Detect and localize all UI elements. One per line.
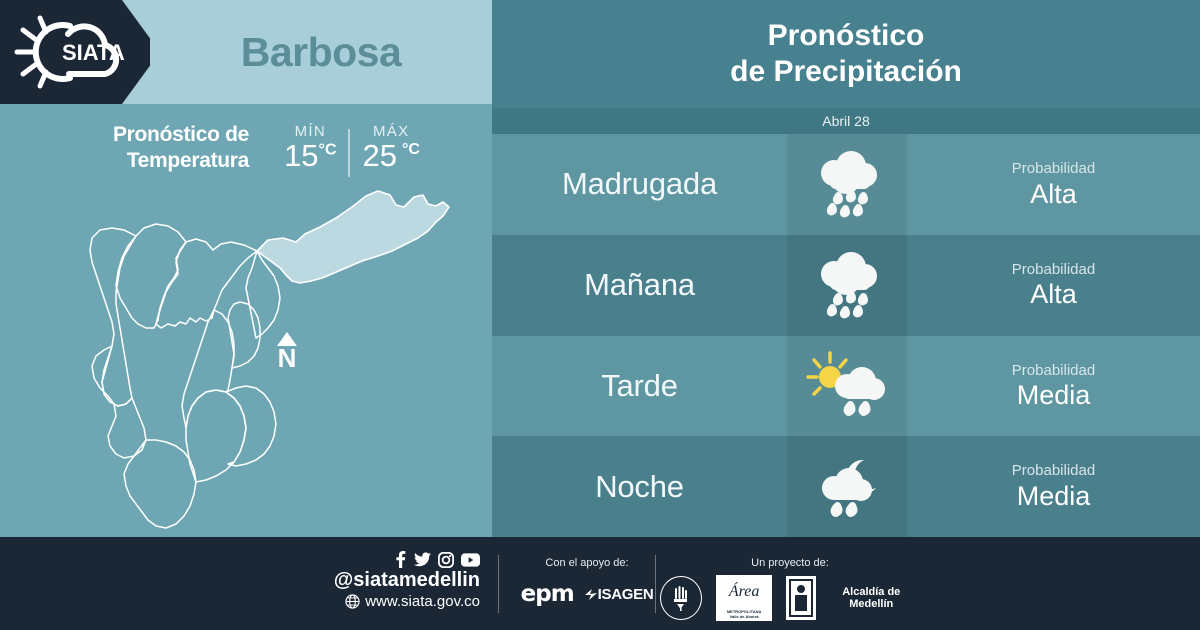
probability-caption: Probabilidad (1012, 159, 1095, 179)
weather-icon-cell (787, 436, 907, 537)
max-unit: °C (402, 141, 420, 158)
support-logos: epm ISAGEN (512, 581, 662, 607)
weather-icon-cell (787, 235, 907, 336)
heavy-rain-cloud-icon (808, 250, 886, 320)
twitter-icon[interactable] (414, 551, 431, 568)
area-word: Área (716, 583, 773, 601)
left-panel: SIATA Barbosa Pronóstico de Temperatura … (0, 0, 492, 537)
period-cell: Mañana (492, 235, 787, 336)
youtube-icon[interactable] (461, 553, 480, 567)
area-metropolitana-logo: Área METROPOLITANA Valle de Aburrá (716, 575, 773, 621)
project-block: Un proyecto de: (660, 557, 920, 621)
city-name: Barbosa (150, 0, 492, 104)
map-region-outlines (90, 224, 280, 528)
epm-logo: epm (521, 581, 574, 607)
compass: N (277, 332, 297, 371)
period-label: Madrugada (562, 166, 717, 202)
probability-cell: Probabilidad Alta (907, 134, 1200, 235)
heavy-rain-cloud-icon (808, 149, 886, 219)
probability-caption: Probabilidad (1012, 260, 1095, 280)
temperature-header: Pronóstico de Temperatura MÍN 15°C MÁX 2… (0, 112, 492, 184)
forecast-row[interactable]: Noche Probabilidad (492, 436, 1200, 537)
support-block: Con el apoyo de: epm ISAGEN (512, 557, 662, 607)
map-region-barbosa[interactable] (257, 191, 449, 283)
unal-seal-logo (660, 576, 702, 620)
right-panel: Pronóstico de Precipitación Abril 28 Mad… (492, 0, 1200, 537)
probability-value: Media (1017, 380, 1091, 411)
instagram-icon[interactable] (438, 552, 454, 568)
social-handle[interactable]: @siatamedellin (330, 569, 480, 592)
max-number: 25 (363, 138, 397, 173)
svg-text:SIATA: SIATA (62, 40, 125, 65)
website-text: www.siata.gov.co (365, 593, 480, 610)
unal-emblem-icon (666, 583, 696, 613)
footer-divider (655, 555, 656, 613)
probability-value: Alta (1030, 179, 1077, 210)
project-caption: Un proyecto de: (660, 557, 920, 569)
precipitation-title-line1: Pronóstico (768, 19, 925, 52)
compass-north-label: N (277, 346, 297, 371)
temperature-min-value: 15°C (284, 138, 336, 174)
probability-caption: Probabilidad (1012, 361, 1095, 381)
sun-cloud-icon: SIATA (12, 12, 138, 92)
alcaldia-word: Alcaldía de Medellín (822, 586, 920, 610)
precipitation-title-line2: de Precipitación (730, 55, 962, 88)
forecast-date: Abril 28 (822, 113, 869, 129)
probability-cell: Probabilidad Media (907, 336, 1200, 437)
alcaldia-mark-icon (786, 576, 816, 620)
period-label: Noche (595, 469, 684, 505)
min-number: 15 (284, 138, 318, 173)
moon-cloud-rain-icon (808, 452, 886, 522)
weather-icon-cell (787, 134, 907, 235)
isagen-logo: ISAGEN (584, 586, 654, 603)
probability-cell: Probabilidad Alta (907, 235, 1200, 336)
temperature-values: MÍN 15°C MÁX 25°C (271, 123, 433, 174)
area-sub-line2: Valle de Aburrá (730, 614, 759, 619)
precipitation-header: Pronóstico de Precipitación (492, 0, 1200, 108)
temperature-title-line1: Pronóstico de (113, 123, 249, 146)
city-title-bar: SIATA Barbosa (0, 0, 492, 104)
isagen-mark-icon (584, 588, 598, 601)
map-svg (0, 182, 492, 537)
probability-cell: Probabilidad Media (907, 436, 1200, 537)
footer: @siatamedellin www.siata.gov.co Con el a… (0, 537, 1200, 630)
sun-cloud-rain-icon (806, 350, 888, 422)
probability-value: Media (1017, 481, 1091, 512)
social-block: @siatamedellin www.siata.gov.co (330, 551, 480, 610)
forecast-row[interactable]: Mañana (492, 235, 1200, 336)
min-unit: °C (319, 141, 337, 158)
weather-forecast-poster: SIATA Barbosa Pronóstico de Temperatura … (0, 0, 1200, 630)
facebook-icon[interactable] (394, 551, 407, 568)
isagen-text: ISAGEN (598, 586, 654, 603)
period-cell: Tarde (492, 336, 787, 437)
website-line[interactable]: www.siata.gov.co (330, 593, 480, 610)
precipitation-title: Pronóstico de Precipitación (730, 18, 962, 90)
probability-caption: Probabilidad (1012, 461, 1095, 481)
forecast-row[interactable]: Tarde (492, 336, 1200, 437)
probability-value: Alta (1030, 279, 1077, 310)
forecast-rows: Madrugada (492, 134, 1200, 537)
globe-icon (345, 594, 360, 609)
siata-logo-block: SIATA (0, 0, 150, 104)
alcaldia-logo: Alcaldía de Medellín (786, 576, 920, 620)
temperature-max-value: 25°C (363, 138, 420, 174)
aburra-valley-map: N (0, 182, 492, 537)
temperature-title-line2: Temperatura (127, 149, 249, 172)
support-caption: Con el apoyo de: (512, 557, 662, 569)
period-label: Mañana (584, 267, 695, 303)
period-cell: Madrugada (492, 134, 787, 235)
area-subtitle: METROPOLITANA Valle de Aburrá (716, 609, 773, 619)
period-cell: Noche (492, 436, 787, 537)
period-label: Tarde (601, 368, 678, 404)
temperature-min: MÍN 15°C (271, 123, 349, 174)
forecast-row[interactable]: Madrugada (492, 134, 1200, 235)
social-icons (330, 551, 480, 568)
forecast-date-bar: Abril 28 (492, 108, 1200, 134)
weather-icon-cell (787, 336, 907, 437)
alcaldia-emblem-icon (786, 576, 816, 620)
temperature-max: MÁX 25°C (350, 123, 433, 174)
footer-divider (498, 555, 499, 613)
project-logos: Área METROPOLITANA Valle de Aburrá (660, 575, 920, 621)
temperature-title: Pronóstico de Temperatura (59, 122, 249, 175)
